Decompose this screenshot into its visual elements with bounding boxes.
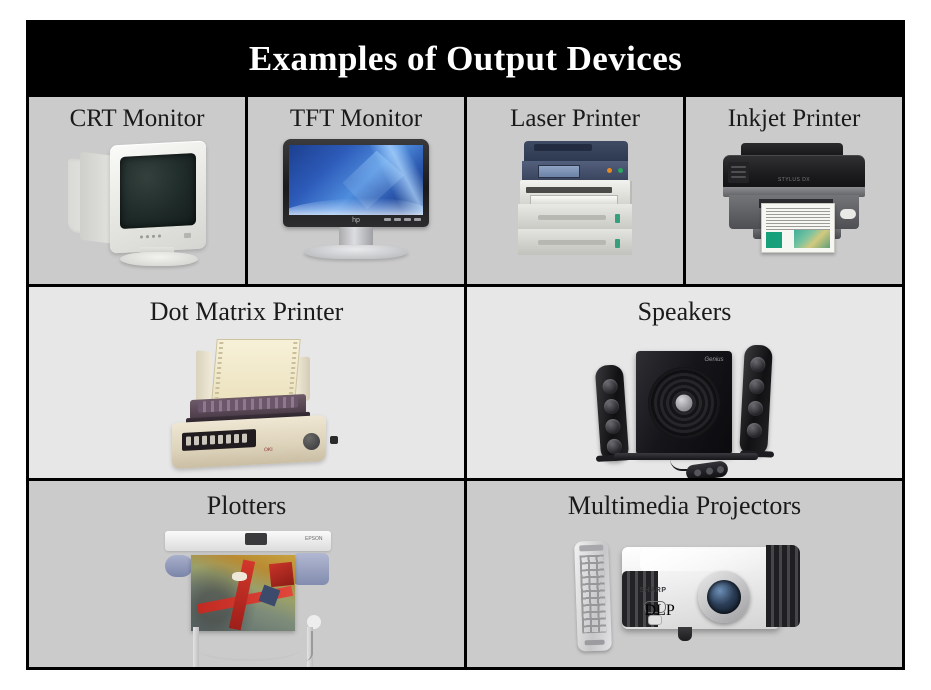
tft-screen xyxy=(289,145,423,215)
speakers-image: Genius xyxy=(467,327,902,478)
subwoofer-dust-cap xyxy=(675,395,692,412)
speaker-brand-logo: Genius xyxy=(704,357,723,363)
printed-text-lines xyxy=(766,208,830,230)
projector-dlp-badge: DLP xyxy=(644,601,666,613)
device-cell-speakers: Speakers Genius xyxy=(464,287,902,478)
plotter-printed-artwork xyxy=(191,555,295,631)
projector-top-highlight xyxy=(640,549,760,571)
dotmatrix-continuous-paper xyxy=(211,339,300,401)
plotter-image: EPSON xyxy=(29,521,464,667)
projector-brand-logo: SHARP xyxy=(640,587,667,594)
device-label-inkjet-printer: Inkjet Printer xyxy=(728,106,861,131)
laser-printer-image xyxy=(467,133,683,284)
plotter-roll-right xyxy=(293,553,329,585)
device-cell-plotters: Plotters EPSON xyxy=(29,481,464,667)
inkjet-printed-page xyxy=(761,203,835,253)
inkjet-printer-image: STYLUS DX xyxy=(686,133,902,284)
tft-brand-logo: hp xyxy=(352,217,360,224)
tft-wallpaper-ray xyxy=(343,151,405,210)
multimedia-projector-image: SHARP DLP xyxy=(467,521,902,667)
device-row-3: Plotters EPSON xyxy=(29,481,902,667)
crt-screen xyxy=(120,153,196,229)
dot-matrix-printer-image: OKI xyxy=(29,327,464,478)
laser-cassette-handle-2 xyxy=(538,240,606,245)
dot-matrix-printer-illustration: OKI xyxy=(148,335,346,478)
inkjet-brand-logo: STYLUS DX xyxy=(778,177,810,183)
device-cell-tft-monitor: TFT Monitor hp xyxy=(245,97,464,284)
laser-cassette-tab-1 xyxy=(615,214,620,223)
laser-output-slot xyxy=(526,187,612,193)
subwoofer-cone xyxy=(648,367,720,439)
subwoofer: Genius xyxy=(636,351,732,455)
device-label-dot-matrix-printer: Dot Matrix Printer xyxy=(150,299,344,325)
laser-status-led-green xyxy=(618,168,623,173)
projector-remote-control xyxy=(574,540,612,651)
crt-monitor-image xyxy=(29,133,245,284)
speakers-illustration: Genius xyxy=(580,329,790,478)
device-label-laser-printer: Laser Printer xyxy=(510,106,640,131)
device-cell-inkjet-printer: Inkjet Printer STYLUS DX xyxy=(683,97,902,284)
device-row-2: Dot Matrix Printer OKI xyxy=(29,287,902,481)
tft-control-buttons xyxy=(384,218,421,221)
inkjet-control-panel xyxy=(728,162,749,183)
artwork-white-shape xyxy=(232,572,247,581)
device-label-plotters: Plotters xyxy=(207,493,286,519)
printed-photo xyxy=(794,230,830,248)
device-label-crt-monitor: CRT Monitor xyxy=(70,106,205,131)
artwork-red-stripe-3 xyxy=(268,561,293,586)
inkjet-badge xyxy=(840,209,856,219)
satellite-speaker-left xyxy=(594,364,629,462)
device-cell-crt-monitor: CRT Monitor xyxy=(29,97,245,284)
projector-front-foot xyxy=(678,627,692,641)
projector-lens-ring xyxy=(698,571,750,623)
dotmatrix-platen-knob xyxy=(303,433,320,450)
remote-brand-strip xyxy=(584,640,604,646)
plotter-brand-logo: EPSON xyxy=(305,536,323,542)
plotter-roll-left xyxy=(165,555,193,577)
laser-printer-illustration xyxy=(516,141,634,261)
remote-power-row xyxy=(579,545,603,552)
tft-monitor-illustration: hp xyxy=(283,139,429,263)
satellite-speaker-right xyxy=(739,344,773,455)
paper-tractor-holes-left xyxy=(214,342,223,398)
laser-cassette-tab-2 xyxy=(615,239,620,248)
projector-illustration: SHARP DLP xyxy=(570,527,800,663)
tft-stand-base xyxy=(304,245,408,259)
dotmatrix-paper-guide-left xyxy=(196,350,212,404)
plotter-media-basket xyxy=(197,637,301,661)
tft-monitor-image: hp xyxy=(248,133,464,284)
paper-tractor-holes-right xyxy=(288,342,297,398)
device-row-1: CRT Monitor TFT Monitor xyxy=(29,97,902,287)
plotter-power-cord xyxy=(295,631,313,661)
laser-lcd-display xyxy=(538,165,580,178)
crt-stand-base xyxy=(120,252,198,266)
output-devices-poster: Examples of Output Devices CRT Monitor xyxy=(26,20,905,670)
device-label-tft-monitor: TFT Monitor xyxy=(290,106,422,131)
remote-keypad xyxy=(579,555,606,634)
crt-power-button xyxy=(184,233,191,238)
laser-cassette-handle-1 xyxy=(538,215,606,220)
dotmatrix-port xyxy=(330,436,338,444)
dotmatrix-brand-logo: OKI xyxy=(264,447,273,453)
plotter-illustration: EPSON xyxy=(147,527,347,667)
laser-scanner-lid xyxy=(534,144,592,151)
device-label-speakers: Speakers xyxy=(638,299,732,325)
plotter-vent xyxy=(245,533,267,545)
projector-focus-button xyxy=(648,615,662,625)
dotmatrix-control-panel xyxy=(182,429,256,451)
page-title: Examples of Output Devices xyxy=(249,41,682,76)
device-cell-multimedia-projectors: Multimedia Projectors SHARP DLP xyxy=(464,481,902,667)
projector-vent-right xyxy=(766,545,800,627)
device-cell-laser-printer: Laser Printer xyxy=(464,97,683,284)
crt-monitor-illustration xyxy=(62,139,212,264)
projector-lens xyxy=(707,580,741,614)
laser-status-led-amber xyxy=(607,168,612,173)
inkjet-printer-illustration: STYLUS DX xyxy=(719,143,869,259)
device-label-multimedia-projectors: Multimedia Projectors xyxy=(568,493,801,519)
device-cell-dot-matrix-printer: Dot Matrix Printer OKI xyxy=(29,287,464,478)
poster-title-bar: Examples of Output Devices xyxy=(29,23,902,97)
printed-color-block xyxy=(766,232,782,248)
